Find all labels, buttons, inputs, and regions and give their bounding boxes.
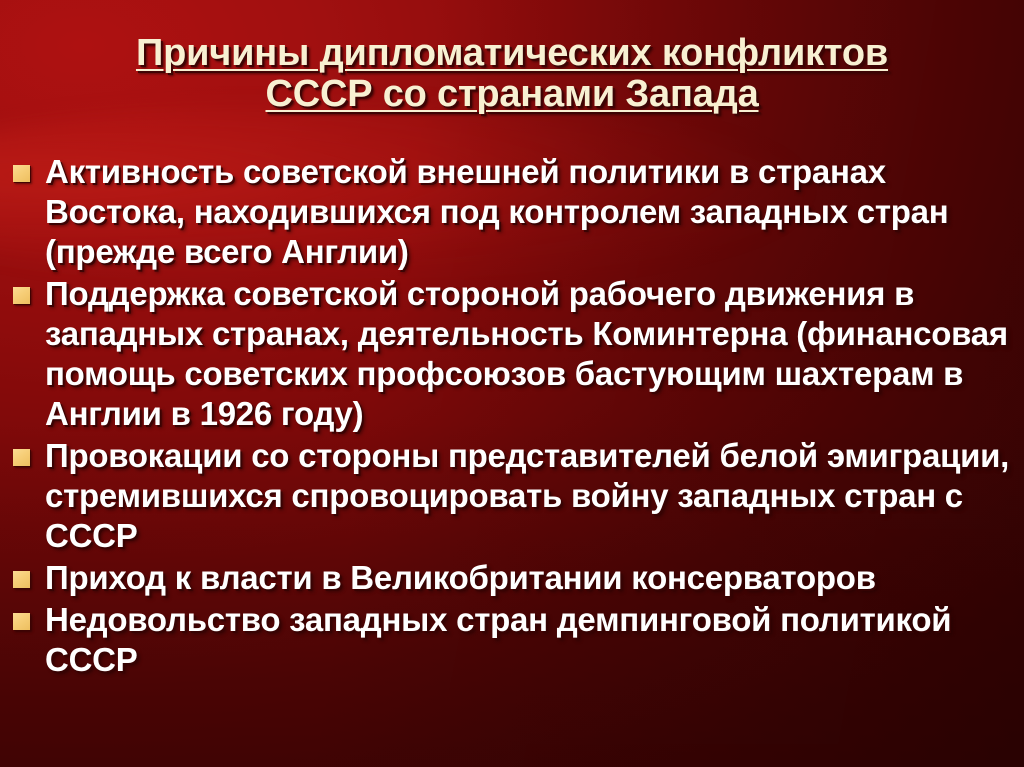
slide-title: Причины дипломатических конфликтов СССР … [58,33,966,115]
list-item: Поддержка советской стороной рабочего дв… [0,274,1024,434]
list-item-label: Приход к власти в Великобритании консерв… [45,558,1016,598]
list-item-label: Активность советской внешней политики в … [45,152,1016,272]
bullet-square-icon [13,165,30,182]
bullet-list: Активность советской внешней политики в … [0,152,1024,682]
slide-title-line-2: СССР со странами Запада [58,74,966,115]
slide-content: Причины дипломатических конфликтов СССР … [0,0,1024,767]
list-item: Активность советской внешней политики в … [0,152,1024,272]
slide-title-line-1: Причины дипломатических конфликтов [58,33,966,74]
list-item-label: Недовольство западных стран демпинговой … [45,600,1016,680]
bullet-square-icon [13,571,30,588]
bullet-square-icon [13,287,30,304]
list-item: Провокации со стороны представителей бел… [0,436,1024,556]
bullet-square-icon [13,449,30,466]
list-item-label: Провокации со стороны представителей бел… [45,436,1016,556]
list-item-label: Поддержка советской стороной рабочего дв… [45,274,1016,434]
bullet-square-icon [13,613,30,630]
presentation-slide: Причины дипломатических конфликтов СССР … [0,0,1024,767]
list-item: Недовольство западных стран демпинговой … [0,600,1024,680]
list-item: Приход к власти в Великобритании консерв… [0,558,1024,598]
